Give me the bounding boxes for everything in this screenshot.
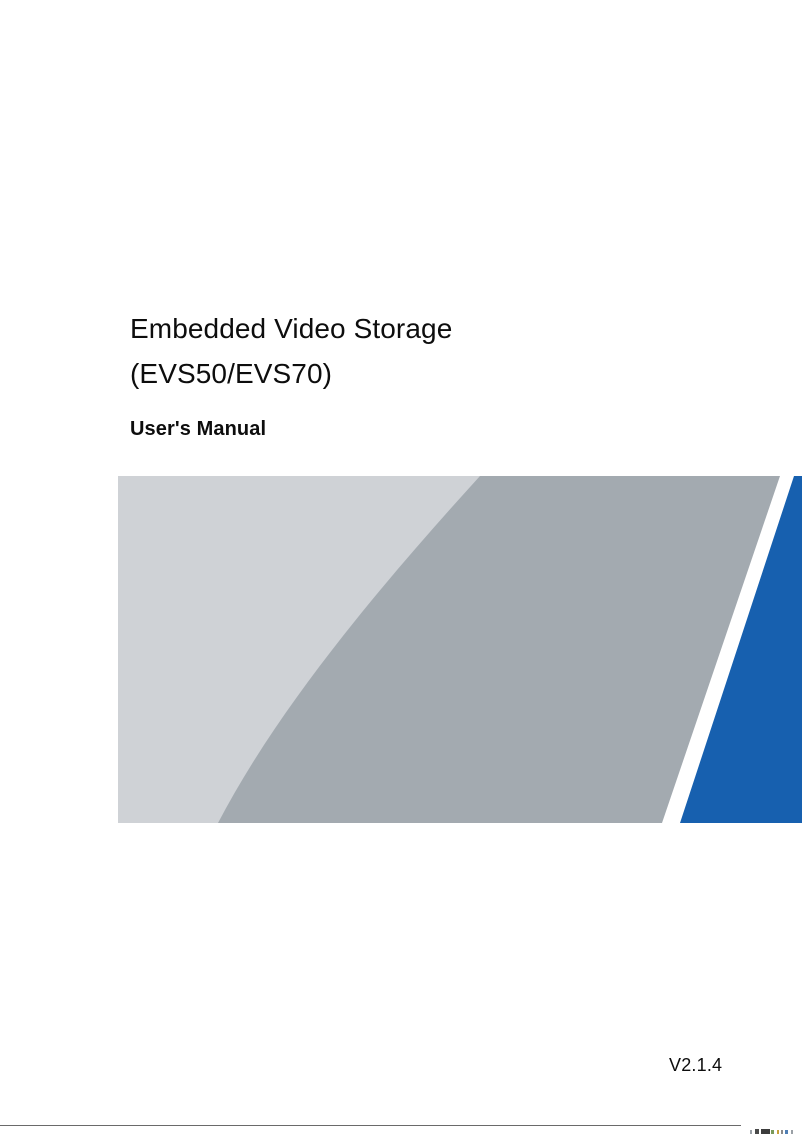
page-subtitle: User's Manual	[130, 414, 730, 444]
footer-divider	[0, 1125, 741, 1126]
page-title: Embedded Video Storage (EVS50/EVS70)	[130, 306, 730, 396]
cover-page: Embedded Video Storage (EVS50/EVS70) Use…	[0, 0, 802, 1134]
title-block: Embedded Video Storage (EVS50/EVS70) Use…	[130, 306, 730, 444]
cropped-brand-logo	[748, 1126, 796, 1134]
cover-banner-graphic	[118, 476, 802, 823]
document-version: V2.1.4	[669, 1055, 722, 1076]
